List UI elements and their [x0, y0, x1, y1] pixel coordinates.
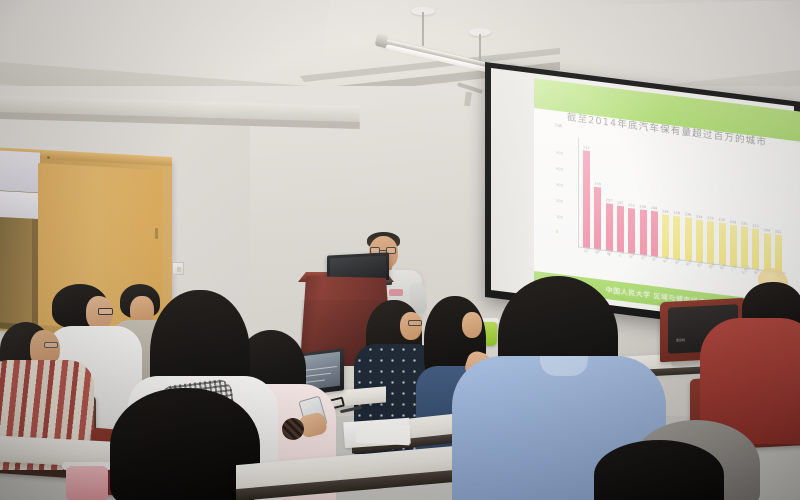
light-stem [422, 12, 424, 46]
chart-bar-value: 204 [764, 228, 770, 233]
chart-bar-group: 252 [615, 142, 626, 252]
chart-bar-value: 257 [606, 198, 612, 203]
chart-bar-value: 252 [617, 201, 623, 206]
chart-bar: 204 [764, 233, 771, 271]
chart-bar: 223 [752, 228, 759, 269]
chart-bar-group: 204 [762, 161, 773, 271]
chart-y-tick: 500 [556, 151, 563, 156]
audience-face [400, 312, 422, 340]
door-screw [47, 156, 50, 159]
chart-bar: 239 [673, 215, 680, 259]
chair-label: 会议椅 [676, 338, 685, 342]
chart-bar-value: 233 [707, 216, 713, 221]
chart-bar-group: 228 [728, 156, 739, 266]
chart-bar-value: 339 [594, 182, 600, 187]
chart-y-tick: 0 [556, 230, 558, 234]
chart-bar-group: 250 [626, 144, 637, 254]
light-stem [479, 34, 481, 62]
light-switch[interactable] [172, 262, 184, 275]
chart-bar-group: 230 [716, 155, 727, 265]
paper-sheet[interactable] [356, 423, 411, 446]
chart-bar-value: 249 [640, 204, 646, 209]
chart-bar-group: 248 [649, 146, 660, 256]
chart-y-tick: 100 [556, 214, 563, 219]
chart-bar: 238 [685, 217, 692, 261]
chart-bar: 234 [696, 219, 703, 262]
glasses-icon [44, 342, 58, 348]
door-transom-window [0, 150, 40, 193]
chart-bar-group: 249 [637, 145, 648, 255]
lecture-room-photo: 截至2014年底汽车保有量超过百万的城市 万辆 5323392572522502… [0, 0, 800, 500]
chart-bar-group: 234 [694, 152, 705, 262]
chart-bar-group: 202 [773, 162, 784, 272]
chart-bar: 339 [594, 187, 601, 249]
chart-y-tick: 200 [556, 199, 563, 204]
bar-chart: 万辆 5323392572522502492482392392382342332… [554, 125, 790, 299]
chart-bar-value: 248 [651, 206, 657, 211]
chart-bar: 230 [719, 223, 726, 266]
chart-bar: 228 [730, 224, 737, 266]
chart-bar: 252 [617, 206, 624, 253]
chart-bar-group: 239 [660, 148, 671, 258]
chart-bar-group: 223 [750, 159, 761, 269]
chart-bar-group: 257 [604, 141, 615, 251]
chart-y-tick: 400 [556, 167, 563, 172]
chart-bar: 257 [606, 203, 613, 251]
water-bottle[interactable] [66, 466, 108, 500]
chart-bar-value: 225 [741, 221, 747, 226]
chart-bar: 249 [640, 209, 647, 255]
chart-bar: 202 [775, 235, 782, 273]
audience-face [462, 312, 482, 338]
chart-bar-group: 239 [671, 149, 682, 259]
glasses-icon [98, 308, 113, 315]
audience-collar [540, 356, 588, 376]
chart-bar-value: 238 [685, 212, 691, 217]
chart-bar-value: 223 [752, 223, 758, 228]
chart-bar-group: 233 [705, 154, 716, 264]
chart-bar-group: 238 [683, 151, 694, 261]
chart-y-axis-label: 万辆 [554, 123, 562, 130]
chart-bar-value: 202 [775, 230, 781, 235]
beaded-bracelet [282, 418, 304, 440]
chart-bar-value: 250 [628, 203, 634, 208]
chart-bar: 233 [707, 221, 714, 264]
chart-bar-value: 230 [719, 218, 725, 223]
glasses-icon [408, 320, 422, 326]
chart-bar: 239 [662, 214, 669, 258]
chart-bar-value: 228 [730, 219, 736, 224]
chart-bar: 250 [628, 208, 635, 254]
chart-bar-value: 532 [583, 146, 589, 151]
whiteboard-edge [0, 191, 38, 219]
chart-bar-group: 339 [592, 139, 603, 249]
chart-bar: 248 [651, 211, 658, 257]
chart-y-tick: 300 [556, 183, 563, 188]
door-hinge [155, 228, 158, 239]
presenter-shirt-logo [389, 289, 403, 296]
chart-bar-group: 532 [581, 138, 592, 248]
chart-bar-value: 234 [696, 214, 702, 219]
chart-bar-group: 225 [739, 158, 750, 268]
chart-bar-value: 239 [662, 209, 668, 214]
chart-bar: 225 [741, 226, 748, 268]
chart-bar: 532 [583, 151, 590, 249]
chart-bar-value: 239 [673, 210, 679, 215]
